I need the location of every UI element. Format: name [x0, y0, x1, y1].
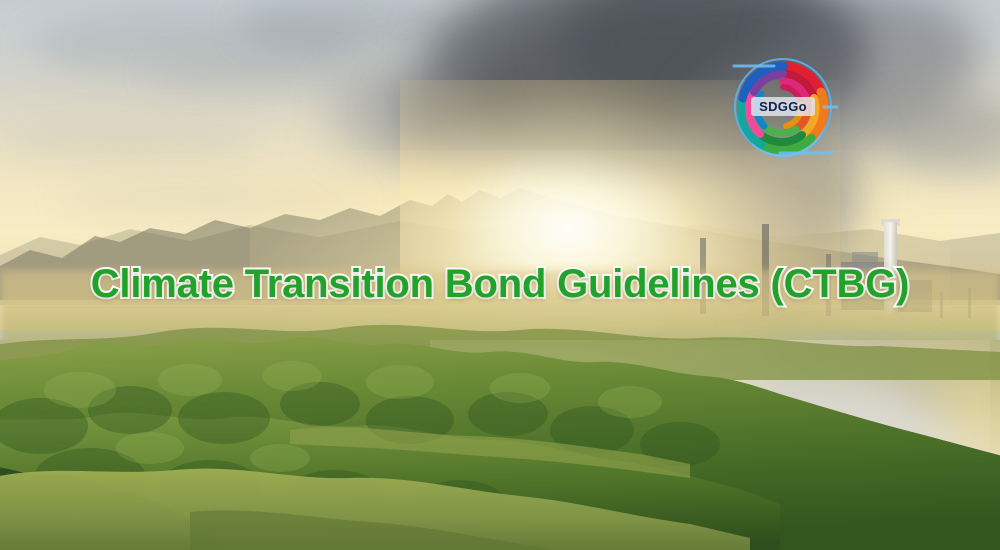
reed-bank: [0, 420, 1000, 550]
page-title: Climate Transition Bond Guidelines (CTBG…: [0, 262, 1000, 307]
climate-transition-bond-banner: Climate Transition Bond Guidelines (CTBG…: [0, 0, 1000, 550]
sdggo-logo[interactable]: SDGGo: [728, 52, 838, 162]
sdggo-ring-icon: [728, 52, 838, 162]
